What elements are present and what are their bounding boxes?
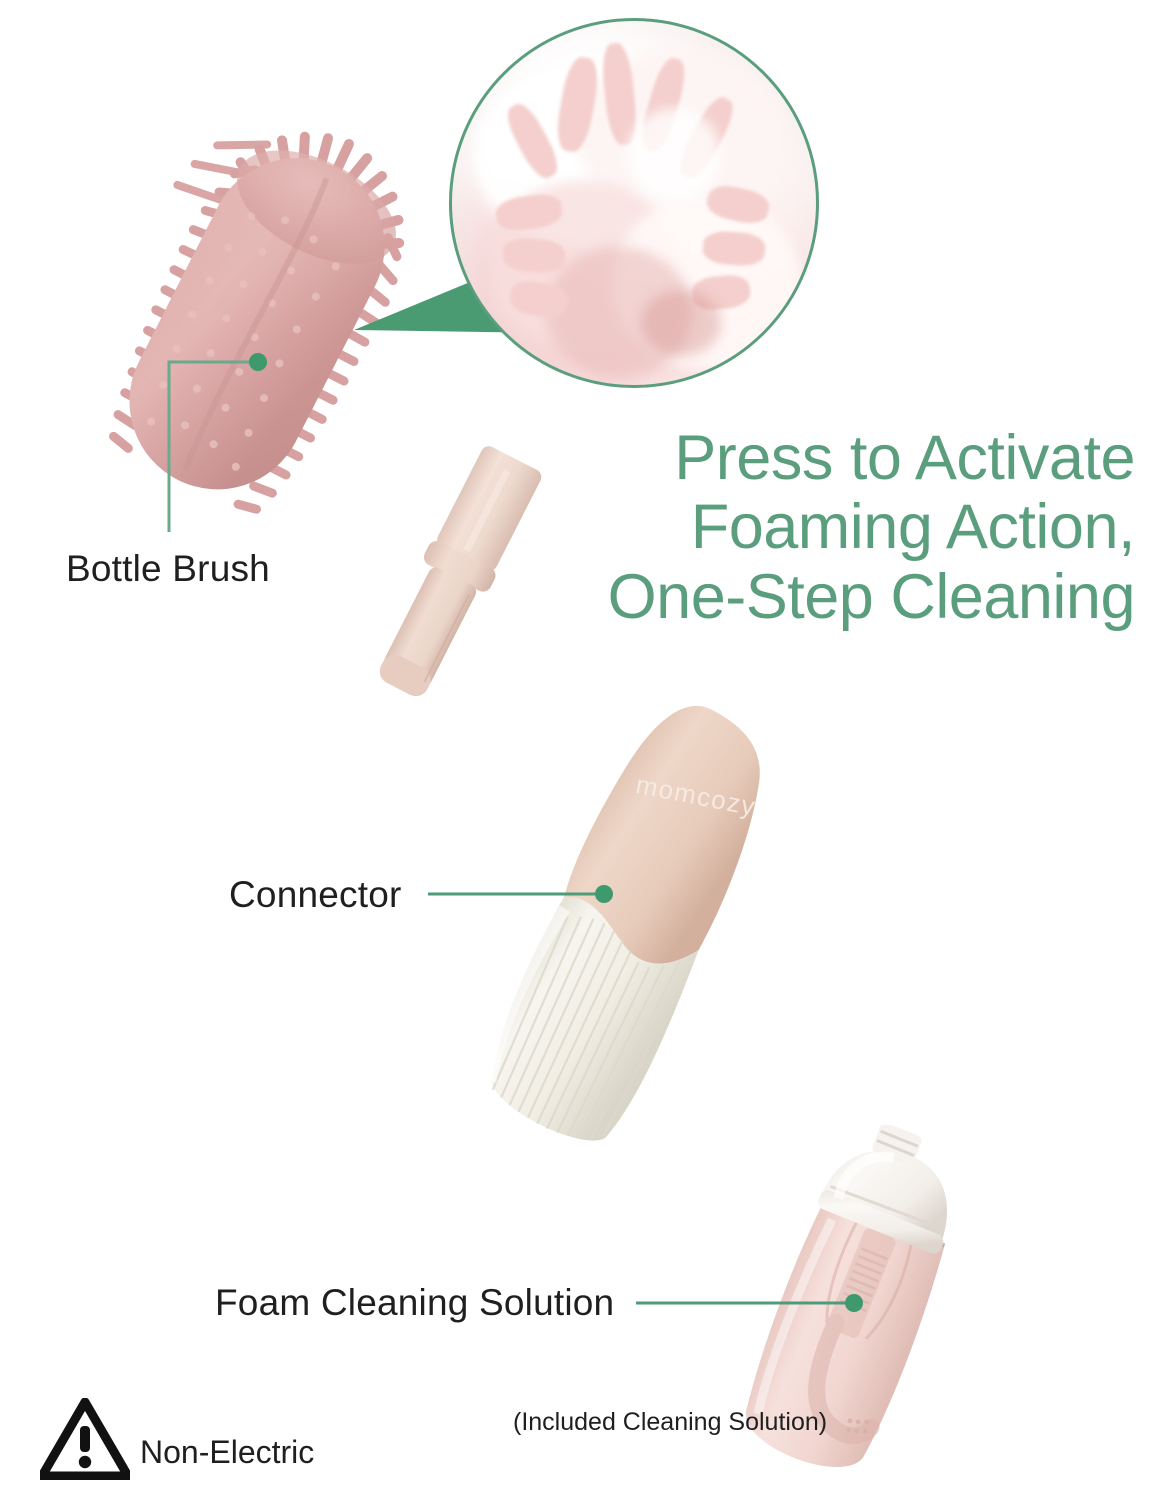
non-electric-label: Non-Electric [140,1434,314,1471]
callout-label-bottle-brush: Bottle Brush [66,548,270,590]
product-illustration: momcozy [0,0,1157,1500]
callout-label-foam-cleaning-solution: Foam Cleaning Solution [215,1282,614,1324]
warning-triangle-icon [40,1398,130,1480]
page-headline: Press to Activate Foaming Action, One-St… [495,424,1135,632]
callout-label-connector: Connector [229,874,402,916]
magnified-detail-circle [449,18,819,388]
foam-cleaning-solution-bottle [740,1125,970,1500]
connector-handle: momcozy [455,690,855,1170]
product-infographic: momcozy [0,0,1157,1500]
caption-included-cleaning-solution: (Included Cleaning Solution) [513,1408,827,1437]
